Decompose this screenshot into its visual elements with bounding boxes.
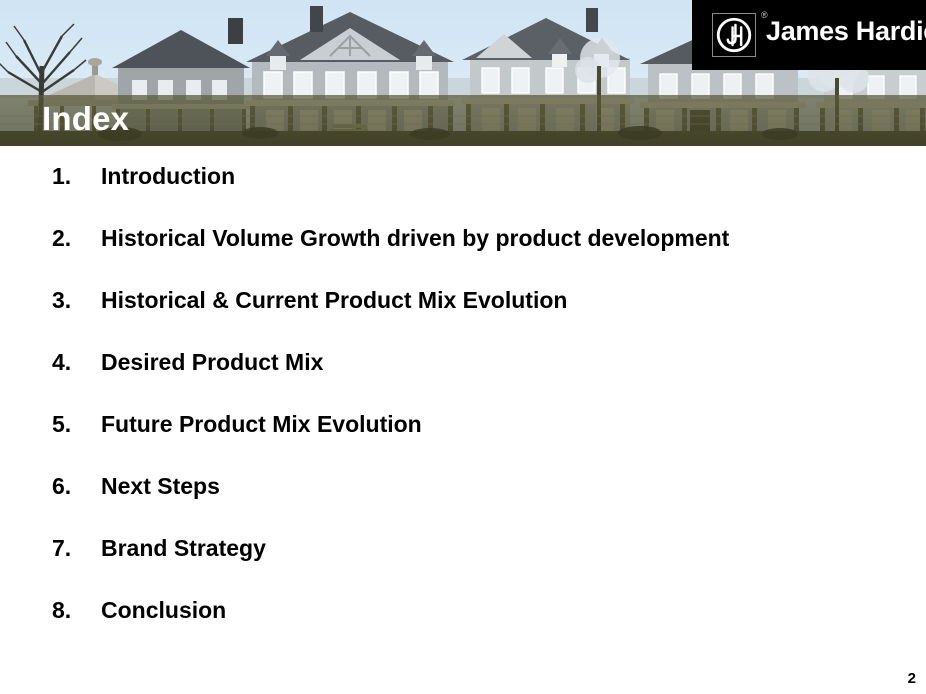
jh-monogram-icon bbox=[712, 13, 756, 57]
index-item-number: 7. bbox=[52, 537, 71, 560]
index-item-number: 6. bbox=[52, 475, 71, 498]
index-item-label: Introduction bbox=[101, 165, 235, 188]
index-item-8[interactable]: 8. Conclusion bbox=[0, 580, 926, 642]
index-item-label: Historical & Current Product Mix Evoluti… bbox=[101, 289, 567, 312]
index-item-number: 1. bbox=[52, 165, 71, 188]
index-item-number: 8. bbox=[52, 599, 71, 622]
index-item-6[interactable]: 6. Next Steps bbox=[0, 456, 926, 518]
presentation-slide: Index ® James Hardie 1. Introduction 2. … bbox=[0, 0, 926, 694]
index-list: 1. Introduction 2. Historical Volume Gro… bbox=[0, 146, 926, 642]
index-item-1[interactable]: 1. Introduction bbox=[0, 146, 926, 208]
index-item-number: 2. bbox=[52, 227, 71, 250]
index-item-number: 3. bbox=[52, 289, 71, 312]
index-item-number: 5. bbox=[52, 413, 71, 436]
page-number: 2 bbox=[908, 671, 916, 686]
index-item-label: Desired Product Mix bbox=[101, 351, 323, 374]
james-hardie-logo: ® James Hardie bbox=[692, 0, 926, 70]
jh-monogram-glyph bbox=[713, 14, 755, 56]
index-item-label: Next Steps bbox=[101, 475, 220, 498]
brand-name: James Hardie bbox=[766, 18, 926, 45]
index-item-label: Future Product Mix Evolution bbox=[101, 413, 422, 436]
index-item-number: 4. bbox=[52, 351, 71, 374]
index-item-label: Conclusion bbox=[101, 599, 226, 622]
page-title: Index bbox=[42, 102, 129, 135]
index-item-label: Historical Volume Growth driven by produ… bbox=[101, 227, 729, 250]
index-item-5[interactable]: 5. Future Product Mix Evolution bbox=[0, 394, 926, 456]
index-item-label: Brand Strategy bbox=[101, 537, 266, 560]
index-item-7[interactable]: 7. Brand Strategy bbox=[0, 518, 926, 580]
index-item-3[interactable]: 3. Historical & Current Product Mix Evol… bbox=[0, 270, 926, 332]
index-item-4[interactable]: 4. Desired Product Mix bbox=[0, 332, 926, 394]
index-item-2[interactable]: 2. Historical Volume Growth driven by pr… bbox=[0, 208, 926, 270]
